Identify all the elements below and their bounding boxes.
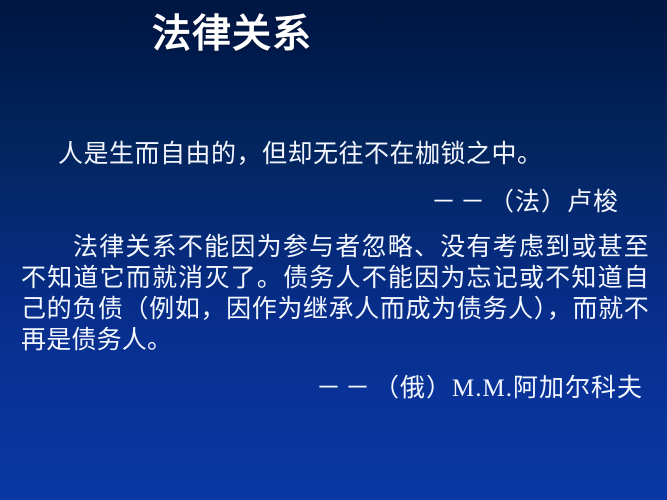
page-title: 法律关系 [152, 12, 312, 58]
quote-text-agarkov: 法律关系不能因为参与者忽略、没有考虑到或甚至不知道它而就消灭了。债务人不能因为忘… [21, 232, 649, 356]
quote-attribution-agarkov: －－（俄）M.M.阿加尔科夫 [0, 372, 643, 406]
attribution-dash: －－ [431, 189, 489, 216]
attribution-source: （法）卢梭 [489, 189, 619, 216]
quote-attribution-rousseau: －－（法）卢梭 [0, 186, 619, 220]
attribution-dash: －－ [316, 375, 374, 402]
attribution-source: （俄）M.M.阿加尔科夫 [374, 375, 643, 402]
presentation-slide: 法律关系 人是生而自由的，但却无往不在枷锁之中。 －－（法）卢梭 法律关系不能因… [0, 0, 667, 500]
quote-text-rousseau: 人是生而自由的，但却无往不在枷锁之中。 [58, 138, 543, 172]
